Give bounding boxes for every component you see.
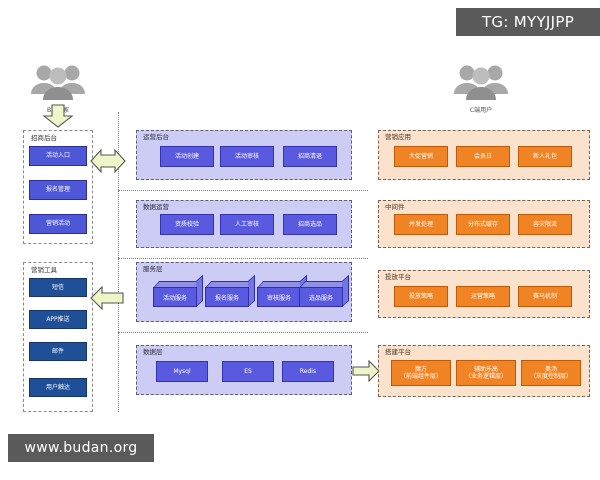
node-signup-service[interactable]: 报名服务 [205, 281, 249, 307]
node-disaster-recovery[interactable]: 容灾限流 [518, 214, 572, 235]
node-signup-management[interactable]: 报名管理 [29, 180, 87, 200]
diagram-canvas: TG: MYYJJPP www.budan.org B端商家 C端用户 [0, 0, 600, 480]
panel-service-layer-title: 服务层 [143, 266, 163, 273]
node-email[interactable]: 邮件 [29, 342, 87, 361]
row-separator-service [118, 332, 368, 333]
group-marketing-tools-title: 营销工具 [31, 267, 57, 274]
tools-from-service-arrow [90, 286, 124, 310]
node-signup-service-label: 报名服务 [205, 287, 249, 307]
panel-middleware-title: 中间件 [385, 204, 405, 211]
telegram-watermark: TG: MYYJJPP [456, 8, 600, 36]
panel-build-platform-title: 搭建平台 [385, 349, 411, 356]
users-group-icon [23, 62, 93, 104]
actor-consumer: C端用户 [446, 62, 516, 114]
node-merchant-selection[interactable]: 招商选品 [283, 214, 337, 235]
node-horse-race-mechanism[interactable]: 赛马机制 [518, 286, 572, 307]
panel-data-layer-title: 数据层 [143, 349, 163, 356]
group-merchant-backend-title: 招商后台 [31, 135, 57, 142]
node-operation-strategy[interactable]: 运营策略 [456, 286, 510, 307]
node-marketing-activity[interactable]: 营销活动 [29, 214, 87, 234]
row-separator-operations [118, 190, 368, 191]
backend-to-operations-arrow [90, 148, 126, 174]
panel-marketing-apps-title: 营销应用 [385, 134, 411, 141]
node-promo-marketing[interactable]: 大促营销 [394, 146, 448, 167]
node-activity-create[interactable]: 活动创建 [160, 146, 214, 167]
node-activity-service-label: 活动服务 [153, 287, 197, 307]
node-app-push[interactable]: APP推送 [29, 310, 87, 329]
node-lego[interactable]: 辅助乐高 （业务逻辑层） [456, 360, 516, 386]
site-watermark: www.budan.org [8, 434, 154, 462]
node-selection-service[interactable]: 选品服务 [299, 281, 343, 307]
merchant-to-backend-arrow [42, 104, 74, 128]
node-delivery-strategy[interactable]: 投放策略 [394, 286, 448, 307]
users-group-icon [446, 62, 516, 104]
node-merchant-exit[interactable]: 招商清退 [283, 146, 337, 167]
node-user-reach[interactable]: 用户触达 [29, 378, 87, 397]
panel-data-operations-title: 数据运营 [143, 204, 169, 211]
panel-delivery-platform-title: 投放平台 [385, 274, 411, 281]
node-review-service[interactable]: 审核服务 [257, 281, 301, 307]
node-es[interactable]: ES [222, 361, 274, 382]
node-activity-entry[interactable]: 活动入口 [29, 146, 87, 166]
node-redis[interactable]: Redis [282, 361, 334, 382]
node-mysql[interactable]: Mysql [156, 361, 208, 382]
node-sms[interactable]: 短信 [29, 278, 87, 297]
node-manual-review[interactable]: 人工审核 [220, 214, 274, 235]
node-review-service-label: 审核服务 [257, 287, 301, 307]
data-to-buildplatform-arrow [352, 360, 380, 382]
actor-consumer-label: C端用户 [446, 105, 516, 114]
node-mofang[interactable]: 魔方 （前端组件层） [391, 360, 451, 386]
node-activity-service[interactable]: 活动服务 [153, 281, 197, 307]
node-newcomer-gift[interactable]: 新人礼包 [518, 146, 572, 167]
node-distributed-cache[interactable]: 分布式缓存 [456, 214, 510, 235]
panel-operations-backend-title: 运营后台 [143, 134, 169, 141]
row-separator-data-ops [118, 258, 368, 259]
node-aotang[interactable]: 奥汤 （灰度控制层） [521, 360, 581, 386]
node-concurrency[interactable]: 并发处理 [394, 214, 448, 235]
node-activity-review[interactable]: 活动审核 [220, 146, 274, 167]
node-qualification-check[interactable]: 资质校验 [160, 214, 214, 235]
node-selection-service-label: 选品服务 [299, 287, 343, 307]
node-member-day[interactable]: 会员日 [456, 146, 510, 167]
